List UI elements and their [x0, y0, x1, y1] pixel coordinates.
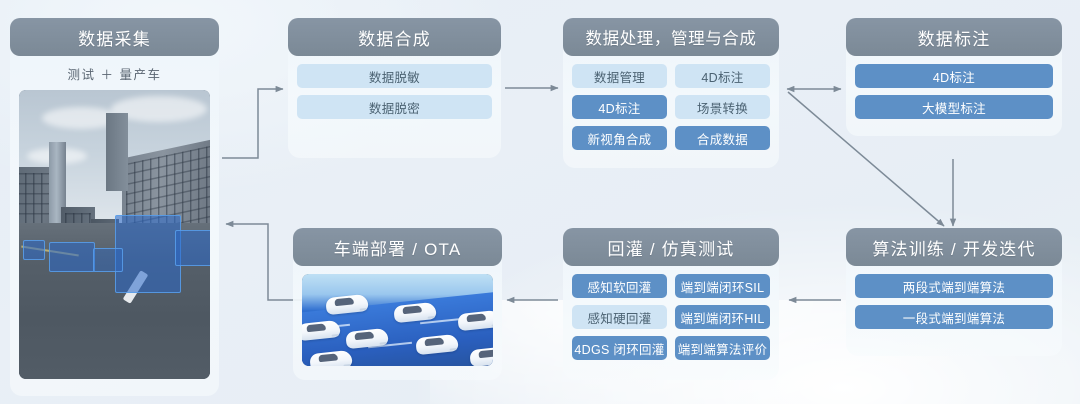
chip-4d-annotation[interactable]: 4D标注: [855, 64, 1053, 88]
replay-chip-grid: 感知软回灌 端到端闭环SIL 感知硬回灌 端到端闭环HIL 4DGS 闭环回灌 …: [572, 274, 770, 367]
processing-chip-grid: 数据管理 4D标注 4D标注 场景转换 新视角合成 合成数据: [572, 64, 770, 157]
panel-processing-title: 数据处理，管理与合成: [563, 18, 779, 56]
panel-replay-simulation[interactable]: 回灌 / 仿真测试 感知软回灌 端到端闭环SIL 感知硬回灌 端到端闭环HIL …: [563, 228, 779, 380]
chip-synthetic-data[interactable]: 合成数据: [675, 126, 770, 150]
pipeline-diagram: 数据采集 测试 ＋ 量产车: [0, 0, 1080, 404]
connector-collect-to-synthesis: [222, 89, 283, 158]
panel-algorithm-training[interactable]: 算法训练 / 开发迭代 两段式端到端算法 一段式端到端算法: [846, 228, 1062, 356]
chip-two-stage-e2e-algorithm[interactable]: 两段式端到端算法: [855, 274, 1053, 298]
street-scene-image: [19, 90, 210, 379]
chip-4d-annotation-blue[interactable]: 4D标注: [572, 95, 667, 119]
vehicle-fleet-image: [302, 274, 493, 366]
chip-one-stage-e2e-algorithm[interactable]: 一段式端到端算法: [855, 305, 1053, 329]
collection-subtitle: 测试 ＋ 量产车: [19, 56, 210, 90]
fleet-car: [457, 310, 493, 331]
chip-4d-annotation-light[interactable]: 4D标注: [675, 64, 770, 88]
panel-training-title: 算法训练 / 开发迭代: [846, 228, 1062, 266]
chip-data-decryption[interactable]: 数据脱密: [297, 95, 492, 119]
chip-4dgs-closed-loop-replay[interactable]: 4DGS 闭环回灌: [572, 336, 667, 360]
chip-e2e-closed-loop-sil[interactable]: 端到端闭环SIL: [675, 274, 770, 298]
panel-replay-title: 回灌 / 仿真测试: [563, 228, 779, 266]
chip-large-model-annotation[interactable]: 大模型标注: [855, 95, 1053, 119]
panel-deployment-title: 车端部署 / OTA: [293, 228, 502, 266]
chip-e2e-algorithm-evaluation[interactable]: 端到端算法评价: [675, 336, 770, 360]
chip-data-desensitization[interactable]: 数据脱敏: [297, 64, 492, 88]
detection-box-car-b: [23, 240, 45, 260]
panel-collection-title: 数据采集: [10, 18, 219, 56]
panel-synthesis-title: 数据合成: [288, 18, 501, 56]
tower-right: [106, 113, 128, 191]
panel-data-collection[interactable]: 数据采集 测试 ＋ 量产车: [10, 18, 219, 396]
panel-data-processing[interactable]: 数据处理，管理与合成 数据管理 4D标注 4D标注 场景转换 新视角合成 合成数…: [563, 18, 779, 168]
chip-perception-hard-replay[interactable]: 感知硬回灌: [572, 305, 667, 329]
chip-novel-view-synthesis[interactable]: 新视角合成: [572, 126, 667, 150]
chip-perception-soft-replay[interactable]: 感知软回灌: [572, 274, 667, 298]
detection-box-truck: [115, 215, 181, 293]
chip-scene-conversion[interactable]: 场景转换: [675, 95, 770, 119]
detection-box-car-c: [175, 230, 210, 266]
chip-data-management[interactable]: 数据管理: [572, 64, 667, 88]
chip-e2e-closed-loop-hil[interactable]: 端到端闭环HIL: [675, 305, 770, 329]
detection-box-car-d: [93, 248, 123, 272]
panel-annotation-title: 数据标注: [846, 18, 1062, 56]
panel-vehicle-deployment[interactable]: 车端部署 / OTA: [293, 228, 502, 380]
detection-box-car-a: [49, 242, 95, 272]
panel-data-synthesis[interactable]: 数据合成 数据脱敏 数据脱密: [288, 18, 501, 158]
panel-data-annotation[interactable]: 数据标注 4D标注 大模型标注: [846, 18, 1062, 136]
